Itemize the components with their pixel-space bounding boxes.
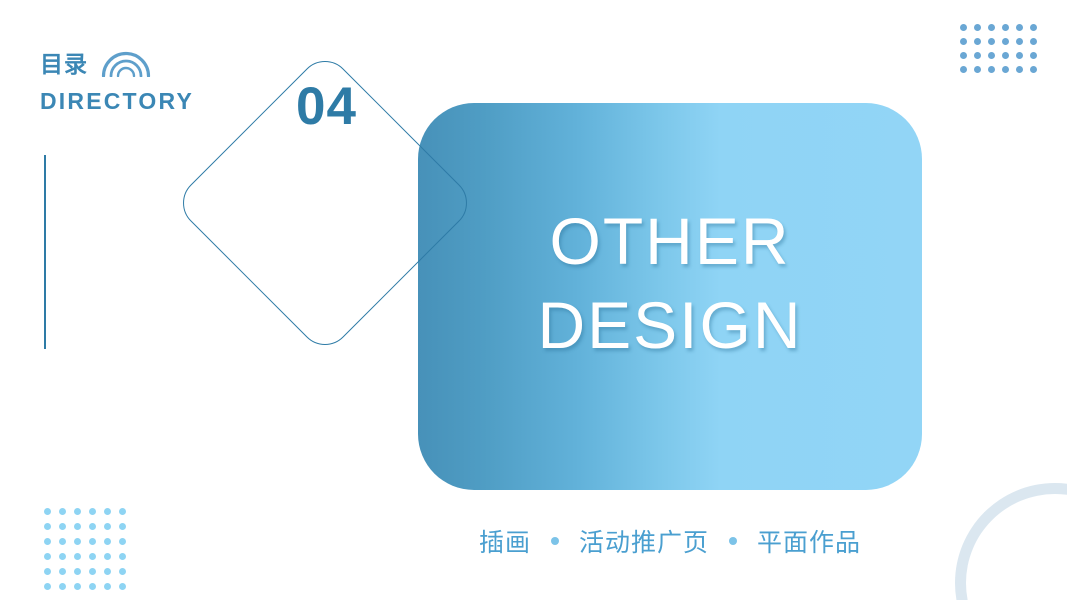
grid-dot — [104, 508, 111, 515]
main-gradient-card: OTHER DESIGN — [418, 103, 922, 490]
grid-dot — [59, 583, 66, 590]
corner-arc-decoration — [955, 483, 1067, 600]
caption-item-1: 插画 — [479, 523, 531, 559]
grid-dot — [119, 508, 126, 515]
caption-separator-dot-icon — [729, 537, 737, 545]
grid-dot — [1016, 24, 1023, 31]
grid-dot — [89, 553, 96, 560]
card-title-line-1: OTHER — [418, 199, 922, 283]
grid-dot — [44, 508, 51, 515]
grid-dot — [59, 553, 66, 560]
grid-dot — [1016, 52, 1023, 59]
grid-dot — [960, 52, 967, 59]
grid-dot — [44, 523, 51, 530]
card-title: OTHER DESIGN — [418, 199, 922, 368]
grid-dot — [988, 52, 995, 59]
vertical-rule-decoration — [44, 155, 46, 349]
grid-dot — [1030, 66, 1037, 73]
grid-dot — [74, 538, 81, 545]
grid-dot — [974, 66, 981, 73]
grid-dot — [988, 66, 995, 73]
grid-dot — [119, 568, 126, 575]
rainbow-arcs-icon — [101, 49, 151, 82]
grid-dot — [974, 24, 981, 31]
grid-dot — [44, 538, 51, 545]
section-number: 04 — [296, 80, 357, 133]
grid-dot — [74, 568, 81, 575]
directory-title-en: DIRECTORY — [40, 90, 270, 113]
caption-item-3: 平面作品 — [757, 523, 861, 559]
grid-dot — [1030, 52, 1037, 59]
grid-dot — [44, 583, 51, 590]
directory-title-cn: 目录 — [40, 53, 88, 76]
grid-dot — [960, 38, 967, 45]
caption-row: 插画 活动推广页 平面作品 — [418, 523, 922, 559]
grid-dot — [59, 538, 66, 545]
grid-dot — [74, 553, 81, 560]
dot-grid-bottom-left — [44, 508, 134, 598]
grid-dot — [119, 583, 126, 590]
grid-dot — [1016, 38, 1023, 45]
grid-dot — [104, 568, 111, 575]
grid-dot — [119, 523, 126, 530]
grid-dot — [119, 538, 126, 545]
grid-dot — [74, 508, 81, 515]
grid-dot — [104, 583, 111, 590]
grid-dot — [119, 553, 126, 560]
grid-dot — [1016, 66, 1023, 73]
grid-dot — [44, 568, 51, 575]
grid-dot — [74, 583, 81, 590]
grid-dot — [974, 52, 981, 59]
grid-dot — [59, 568, 66, 575]
grid-dot — [1002, 66, 1009, 73]
grid-dot — [988, 24, 995, 31]
grid-dot — [1030, 24, 1037, 31]
dot-grid-top-right — [960, 24, 1044, 80]
grid-dot — [1002, 38, 1009, 45]
grid-dot — [104, 553, 111, 560]
grid-dot — [59, 523, 66, 530]
directory-heading-block: 目录 DIRECTORY — [40, 47, 270, 113]
grid-dot — [44, 553, 51, 560]
grid-dot — [960, 24, 967, 31]
card-title-line-2: DESIGN — [418, 283, 922, 367]
grid-dot — [89, 568, 96, 575]
grid-dot — [104, 523, 111, 530]
grid-dot — [1002, 52, 1009, 59]
caption-separator-dot-icon — [551, 537, 559, 545]
grid-dot — [974, 38, 981, 45]
grid-dot — [1030, 38, 1037, 45]
grid-dot — [89, 508, 96, 515]
grid-dot — [1002, 24, 1009, 31]
slide-canvas: 目录 DIRECTORY 04 OTHER DESIGN 插画 活动推广页 平面… — [0, 0, 1067, 600]
grid-dot — [89, 583, 96, 590]
grid-dot — [74, 523, 81, 530]
grid-dot — [960, 66, 967, 73]
grid-dot — [89, 523, 96, 530]
caption-item-2: 活动推广页 — [579, 523, 709, 559]
grid-dot — [59, 508, 66, 515]
grid-dot — [89, 538, 96, 545]
grid-dot — [104, 538, 111, 545]
directory-title-row: 目录 — [40, 47, 270, 81]
grid-dot — [988, 38, 995, 45]
